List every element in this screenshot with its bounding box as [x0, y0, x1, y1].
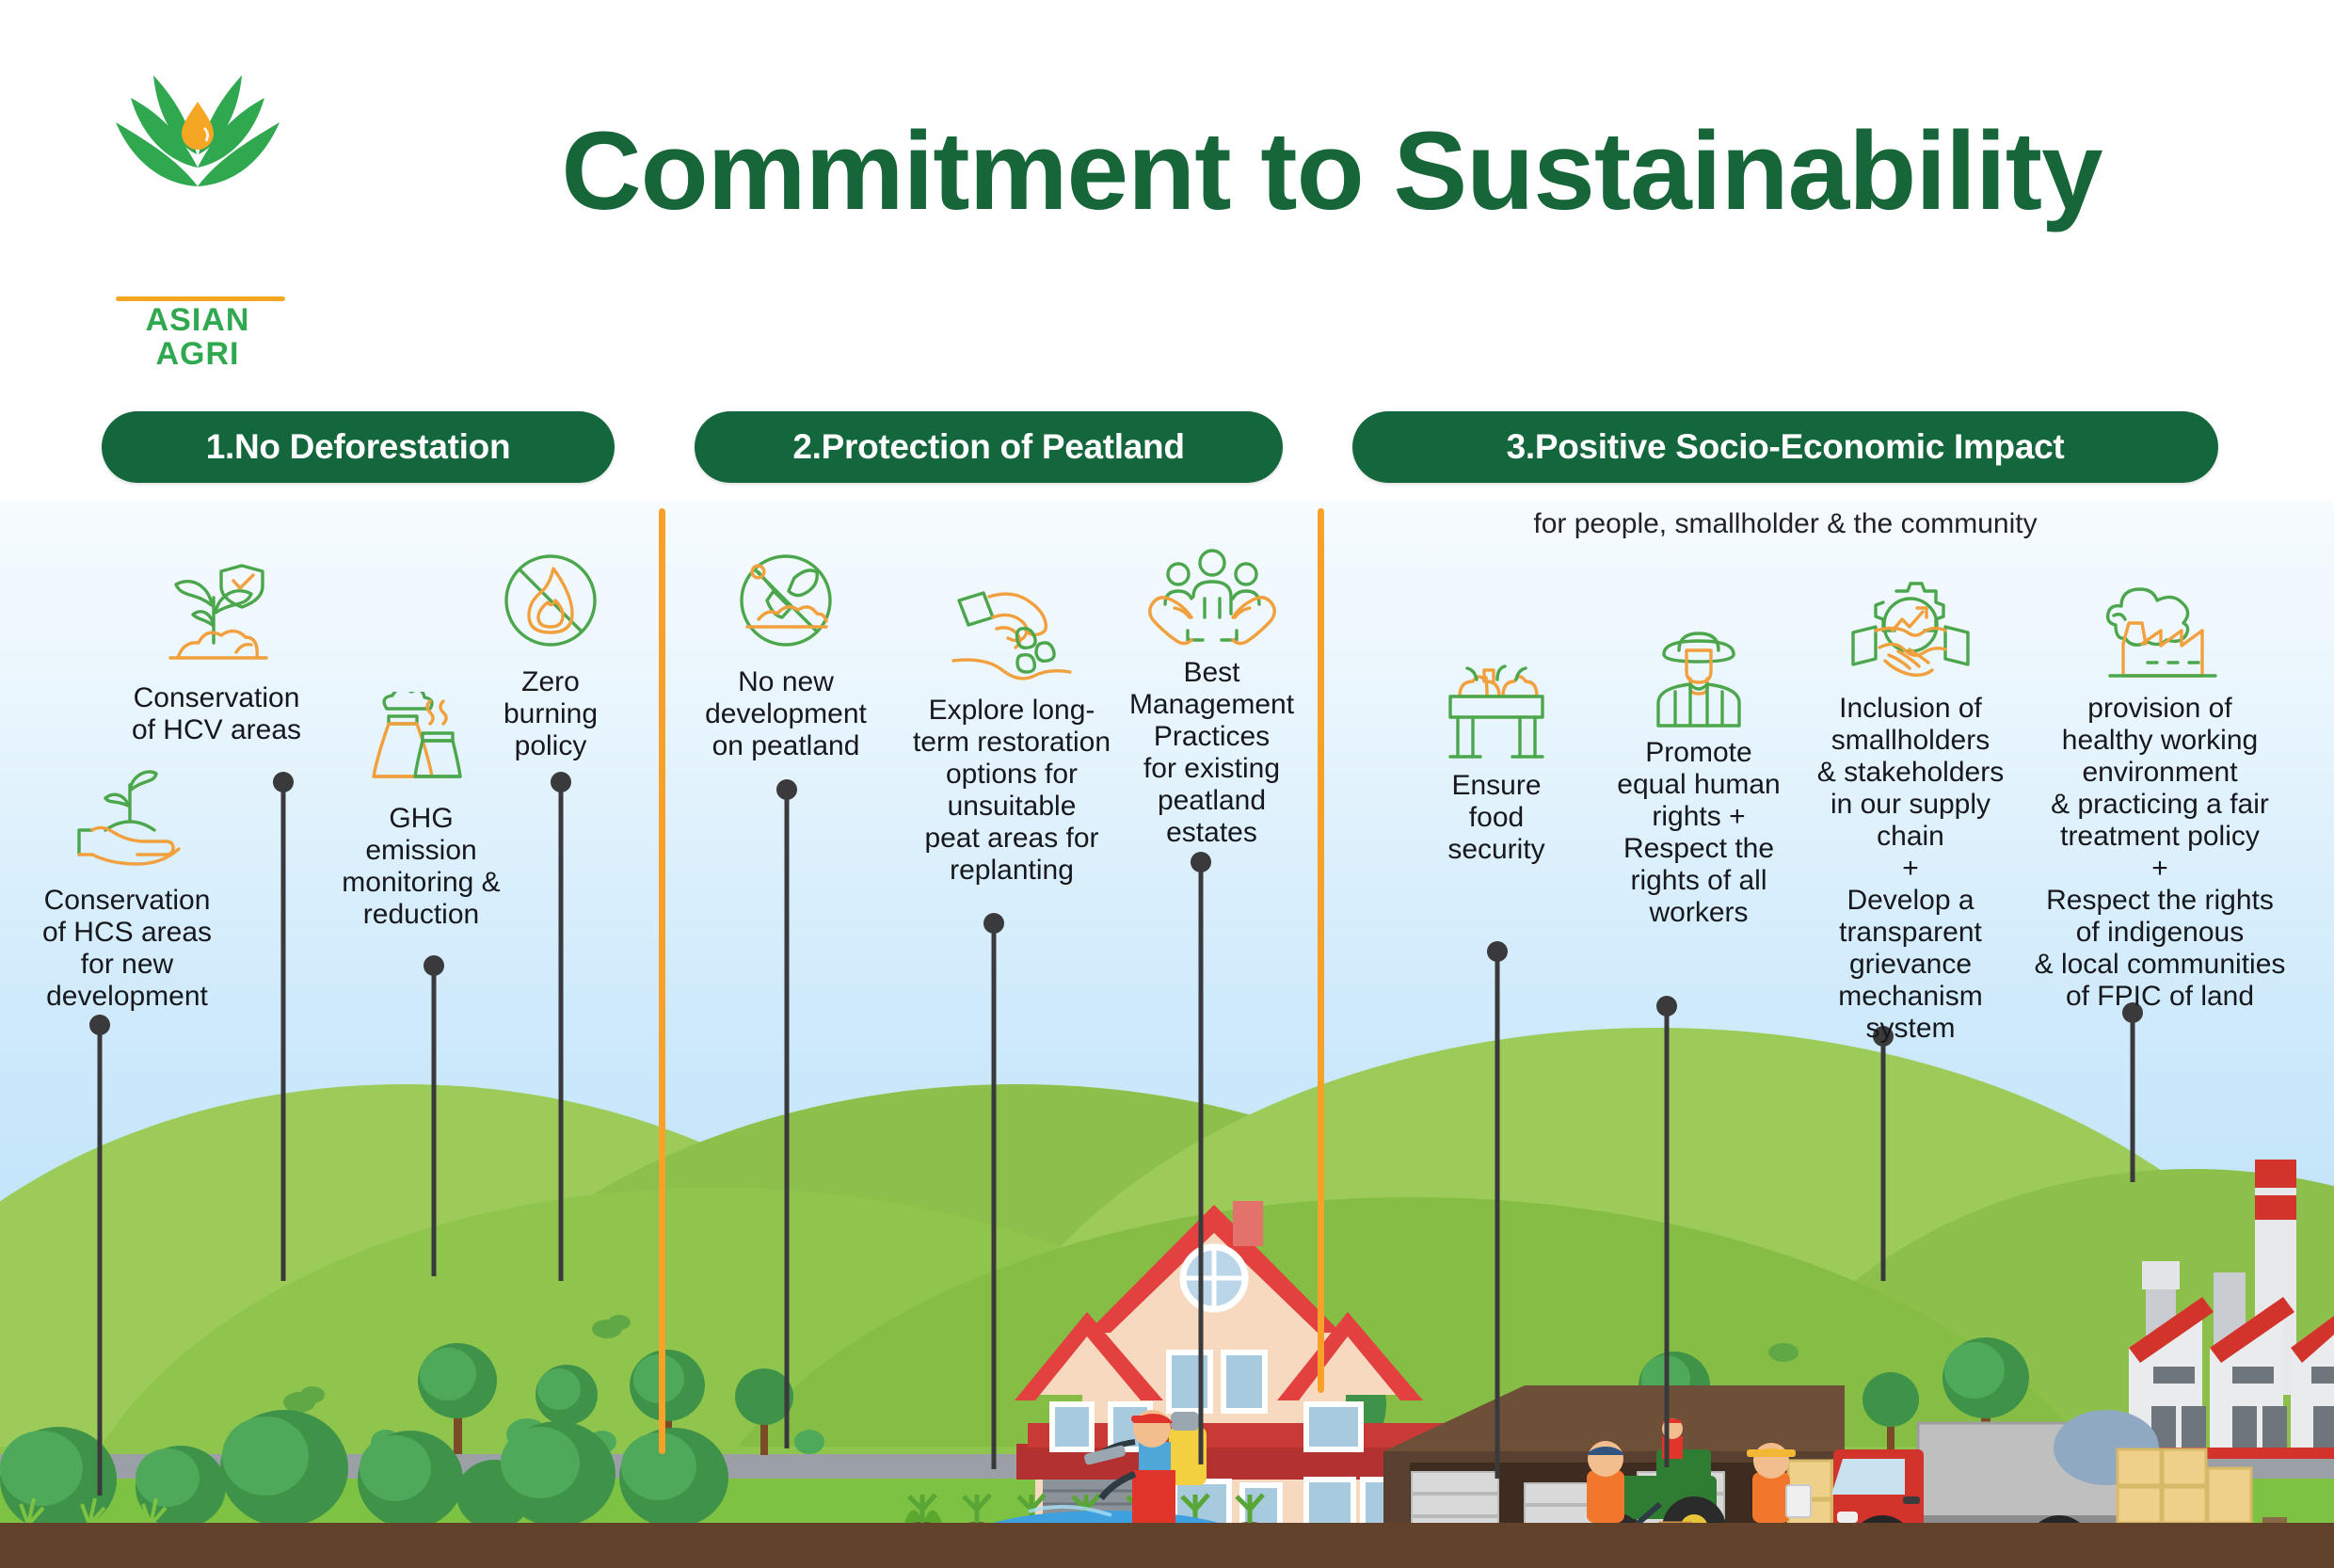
item-label: Explore long-term restorationoptions for…	[889, 695, 1134, 887]
lotus-oil-drop-logo-icon	[99, 56, 296, 207]
factory-cloud-icon	[2089, 582, 2230, 695]
pin-stem	[98, 1025, 103, 1496]
page-title: Commitment to Sustainability	[395, 113, 2268, 230]
pin-stem	[432, 966, 437, 1276]
pin-stem	[1199, 862, 1204, 1464]
section-3-subtitle: for people, smallholder & the community	[1352, 508, 2218, 540]
item-label: Promoteequal humanrights +Respect therig…	[1591, 737, 1807, 929]
brand-name: ASIAN AGRI	[99, 303, 296, 371]
section-divider-1	[659, 508, 665, 1454]
section-pill-no-deforestation[interactable]: 1.No Deforestation	[102, 411, 615, 483]
item-label: Conservationof HCS areasfor newdevelopme…	[19, 885, 235, 1013]
section-pill-protection-of-peatland[interactable]: 2.Protection of Peatland	[695, 411, 1283, 483]
pin-stem	[1665, 1006, 1670, 1467]
no-fire-icon	[489, 546, 612, 659]
pin-stem	[559, 782, 564, 1281]
section-pill-positive-socio-economic-impact[interactable]: 3.Positive Socio-Economic Impact	[1352, 411, 2218, 483]
hand-holding-seedling-icon	[56, 762, 198, 875]
farmer-person-icon	[1638, 626, 1760, 739]
section-divider-2	[1318, 508, 1324, 1393]
item-label: Ensurefoodsecurity	[1407, 770, 1586, 866]
soil-strip	[0, 1523, 2334, 1568]
infographic-canvas: ASIAN AGRI Commitment to Sustainability …	[0, 0, 2334, 1568]
pin-stem	[281, 782, 286, 1281]
hand-sowing-seeds-icon	[936, 584, 1087, 696]
handshake-gear-icon	[1840, 582, 1981, 695]
brand-name-line2: AGRI	[99, 337, 296, 371]
pin-stem	[785, 790, 790, 1448]
seedling-shield-check-icon	[146, 560, 287, 673]
item-label: provision ofhealthy workingenvironment& …	[2023, 693, 2296, 1013]
item-label: Inclusion ofsmallholders& stakeholdersin…	[1793, 693, 2028, 1045]
pin-stem	[2131, 1013, 2135, 1182]
brand-logo: ASIAN AGRI	[99, 56, 296, 292]
item-label: BestManagementPracticesfor existingpeatl…	[1106, 657, 1318, 849]
hands-holding-people-icon	[1137, 546, 1287, 649]
no-shovel-digging-icon	[725, 546, 847, 659]
item-label: Zeroburningpolicy	[461, 666, 640, 762]
header: ASIAN AGRI Commitment to Sustainability	[0, 0, 2334, 376]
logo-divider-rule	[116, 296, 285, 301]
item-label: No newdevelopmenton peatland	[668, 666, 903, 762]
item-label: GHGemissionmonitoring &reduction	[320, 803, 522, 931]
brand-name-line1: ASIAN	[99, 303, 296, 337]
pin-stem	[1495, 952, 1500, 1479]
market-stall-produce-icon	[1435, 659, 1558, 772]
pin-stem	[992, 923, 997, 1469]
item-label: Conservationof HCV areas	[99, 682, 334, 746]
pin-stem	[1881, 1036, 1886, 1281]
